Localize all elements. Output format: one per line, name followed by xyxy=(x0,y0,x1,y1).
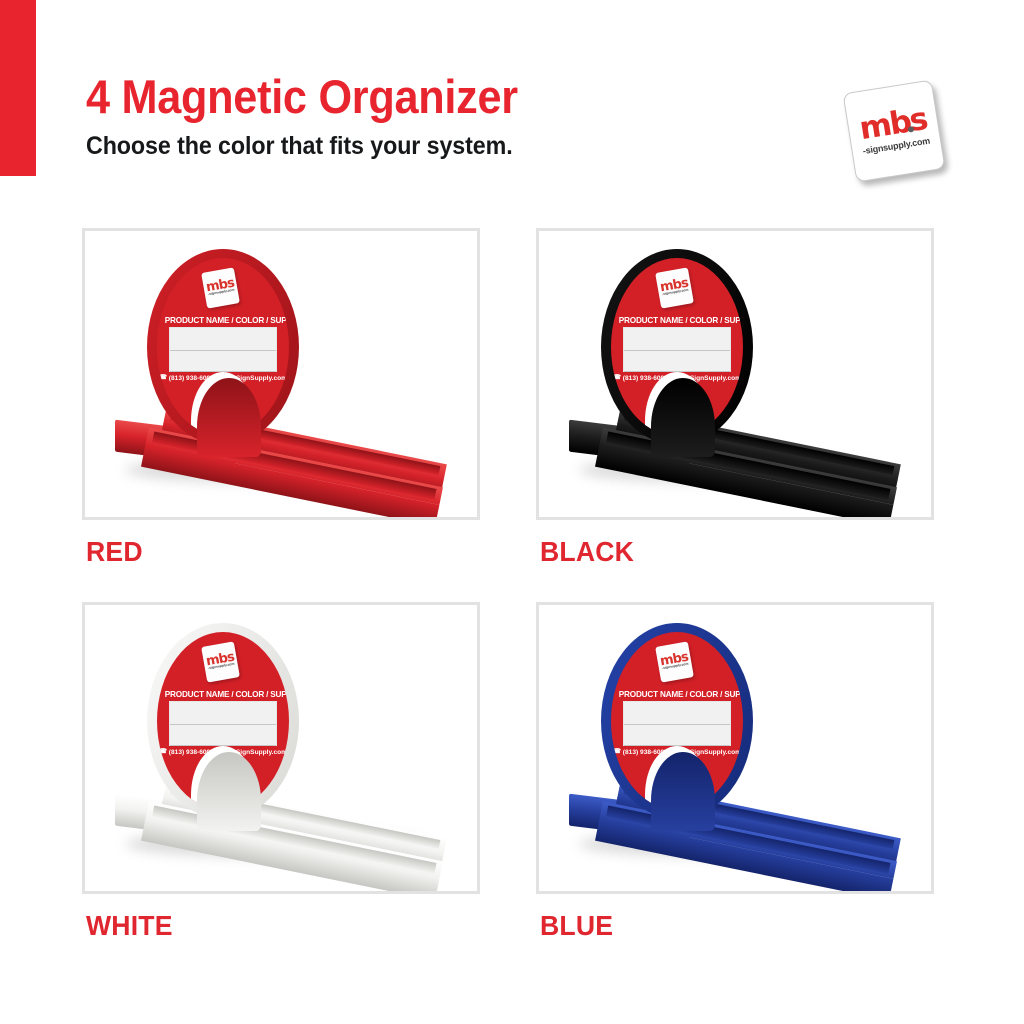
label-mbs-logo: mbs-signsupply.com xyxy=(656,642,695,683)
logo-plate: mbs -signsupply.com xyxy=(843,80,946,183)
oval-sign-placard: mbs-signsupply.comPRODUCT NAME / COLOR /… xyxy=(147,249,299,445)
product-image-card[interactable]: mbs-signsupply.comPRODUCT NAME / COLOR /… xyxy=(536,602,934,894)
color-label-black: BLACK xyxy=(540,536,634,568)
write-in-rule xyxy=(624,350,730,351)
placard-field-width: Width: xyxy=(623,394,643,401)
product-image-card[interactable]: mbs-signsupply.comPRODUCT NAME / COLOR /… xyxy=(536,228,934,520)
product-image-card[interactable]: mbs-signsupply.comPRODUCT NAME / COLOR /… xyxy=(82,602,480,894)
phone-icon: ☎ xyxy=(613,375,621,382)
label-mbs-logo: mbs-signsupply.com xyxy=(202,642,241,683)
write-in-area[interactable] xyxy=(169,327,277,372)
product-image-card[interactable]: mbs-signsupply.comPRODUCT NAME / COLOR /… xyxy=(82,228,480,520)
phone-icon: ☎ xyxy=(159,749,167,756)
mbs-signsupply-logo: mbs -signsupply.com xyxy=(843,82,947,182)
write-in-area[interactable] xyxy=(623,701,731,746)
product-option-black[interactable]: mbs-signsupply.comPRODUCT NAME / COLOR /… xyxy=(536,228,934,580)
placard-field-length: Length: xyxy=(248,385,271,392)
magnetic-organizer-photo-black: mbs-signsupply.comPRODUCT NAME / COLOR /… xyxy=(539,231,931,517)
magnetic-organizer-photo-blue: mbs-signsupply.comPRODUCT NAME / COLOR /… xyxy=(539,605,931,891)
oval-sign-placard: mbs-signsupply.comPRODUCT NAME / COLOR /… xyxy=(147,623,299,819)
logo-wordmark: mbs xyxy=(858,106,928,142)
write-in-rule xyxy=(170,350,276,351)
placard-field-length: Length: xyxy=(702,759,725,766)
color-label-white: WHITE xyxy=(86,910,173,942)
product-option-red[interactable]: mbs-signsupply.comPRODUCT NAME / COLOR /… xyxy=(82,228,480,580)
page-subtitle: Choose the color that fits your system. xyxy=(86,132,737,161)
page-title: 4 Magnetic Organizer xyxy=(86,72,730,122)
phone-icon: ☎ xyxy=(159,375,167,382)
placard-field-width: Width: xyxy=(169,768,189,775)
color-label-blue: BLUE xyxy=(540,910,613,942)
product-option-white[interactable]: mbs-signsupply.comPRODUCT NAME / COLOR /… xyxy=(82,602,480,954)
placard-field-length: Length: xyxy=(702,385,725,392)
phone-icon: ☎ xyxy=(613,749,621,756)
magnetic-organizer-photo-white: mbs-signsupply.comPRODUCT NAME / COLOR /… xyxy=(85,605,477,891)
product-color-options-page: 4 Magnetic Organizer Choose the color th… xyxy=(0,0,1024,1024)
placard-headline: PRODUCT NAME / COLOR / SUPPLIER xyxy=(165,690,281,699)
write-in-rule xyxy=(170,724,276,725)
placard-field-width: Width: xyxy=(169,394,189,401)
placard-headline: PRODUCT NAME / COLOR / SUPPLIER xyxy=(619,690,735,699)
header: 4 Magnetic Organizer Choose the color th… xyxy=(86,72,786,161)
write-in-area[interactable] xyxy=(169,701,277,746)
oval-sign-placard: mbs-signsupply.comPRODUCT NAME / COLOR /… xyxy=(601,249,753,445)
product-option-blue[interactable]: mbs-signsupply.comPRODUCT NAME / COLOR /… xyxy=(536,602,934,954)
label-mbs-logo: mbs-signsupply.com xyxy=(202,268,241,309)
magnetic-organizer-photo-red: mbs-signsupply.comPRODUCT NAME / COLOR /… xyxy=(85,231,477,517)
color-label-red: RED xyxy=(86,536,143,568)
write-in-rule xyxy=(624,724,730,725)
red-accent-bar xyxy=(0,0,36,176)
write-in-area[interactable] xyxy=(623,327,731,372)
placard-headline: PRODUCT NAME / COLOR / SUPPLIER xyxy=(619,316,735,325)
placard-headline: PRODUCT NAME / COLOR / SUPPLIER xyxy=(165,316,281,325)
placard-field-width: Width: xyxy=(623,768,643,775)
placard-field-length: Length: xyxy=(248,759,271,766)
label-mbs-logo: mbs-signsupply.com xyxy=(656,268,695,309)
oval-sign-placard: mbs-signsupply.comPRODUCT NAME / COLOR /… xyxy=(601,623,753,819)
